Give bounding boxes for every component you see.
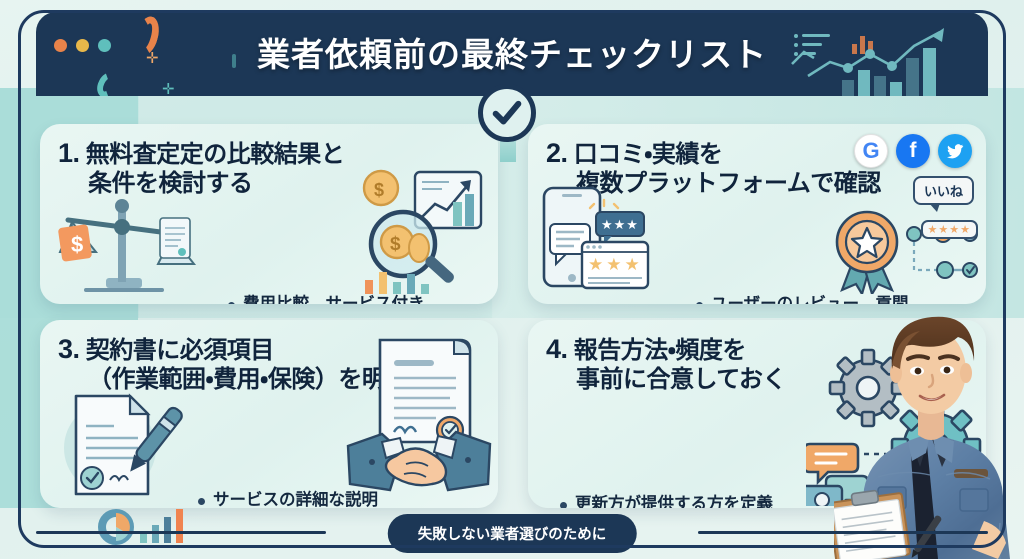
svg-text:$: $ bbox=[71, 232, 83, 257]
contract-handshake-icon bbox=[344, 334, 494, 506]
decor-plus-2: ✛ bbox=[162, 80, 175, 96]
facebook-icon[interactable]: f bbox=[896, 134, 930, 168]
card-4-title-line1: 報告方法・頻度を bbox=[574, 337, 746, 364]
twitter-icon[interactable] bbox=[938, 134, 972, 168]
card-1-bullet-1: 費用比較、サービス付き、 bbox=[243, 295, 440, 304]
header: ✛ ✛ 業者依頼前の最終チェックリスト bbox=[36, 12, 988, 96]
google-icon[interactable]: G bbox=[854, 134, 888, 168]
card-4-bullet-1: 更新方が提供する方を定義 bbox=[575, 495, 773, 508]
footer-label: 失敗しない業者選びのために bbox=[388, 514, 637, 553]
document-pen-icon bbox=[54, 386, 184, 502]
like-bubble: いいね bbox=[913, 176, 974, 205]
balance-scale-icon: $ bbox=[54, 190, 204, 300]
svg-text:$: $ bbox=[390, 234, 401, 255]
google-glyph: G bbox=[862, 138, 879, 164]
bottom-chart-decoration bbox=[96, 505, 206, 545]
facebook-glyph: f bbox=[910, 139, 917, 163]
infographic-root: ✛ ✛ 業者依頼前の最終チェックリスト bbox=[0, 0, 1024, 559]
card-1[interactable]: 1. 無料査定定の比較結果と 条件を検討する $ bbox=[40, 124, 498, 304]
card-3-number: 3. bbox=[58, 334, 80, 364]
card-4-number: 4. bbox=[546, 334, 568, 364]
card-3-title-line1: 契約書に必須項目 bbox=[86, 337, 274, 364]
card-3[interactable]: 3. 契約書に必須項目 （作業範囲・費用・保険）を明記 サービスの詳細な説明 費… bbox=[40, 320, 498, 508]
card-1-number: 1. bbox=[58, 138, 80, 168]
svg-text:$: $ bbox=[374, 180, 384, 200]
card-2-number: 2. bbox=[546, 138, 568, 168]
svg-text:★★★: ★★★ bbox=[601, 217, 639, 232]
stars-rating-box: ★★★★ bbox=[921, 220, 978, 239]
card-2-title-line1: 口コミ・実績を bbox=[574, 141, 723, 168]
card-2[interactable]: 2. 口コミ・実績を 複数プラットフォームで確認 G f いいね ★★★★ ★★… bbox=[528, 124, 986, 304]
header-chart-decoration bbox=[790, 18, 980, 96]
svg-text:★★★: ★★★ bbox=[588, 255, 643, 274]
check-badge bbox=[478, 84, 536, 142]
social-icons: G f bbox=[854, 134, 972, 168]
check-icon bbox=[490, 96, 524, 130]
card-1-title-line1: 無料査定定の比較結果と bbox=[86, 141, 345, 168]
phone-review-icon: ★★★ ★★★ bbox=[538, 180, 658, 300]
twitter-bird-glyph bbox=[945, 141, 965, 161]
magnifier-coins-icon: $ $ bbox=[357, 156, 492, 296]
footer-rule-right bbox=[698, 531, 988, 534]
person-photo bbox=[834, 291, 1024, 559]
footer-rule-left bbox=[36, 531, 326, 534]
award-ribbon-icon bbox=[830, 208, 904, 294]
